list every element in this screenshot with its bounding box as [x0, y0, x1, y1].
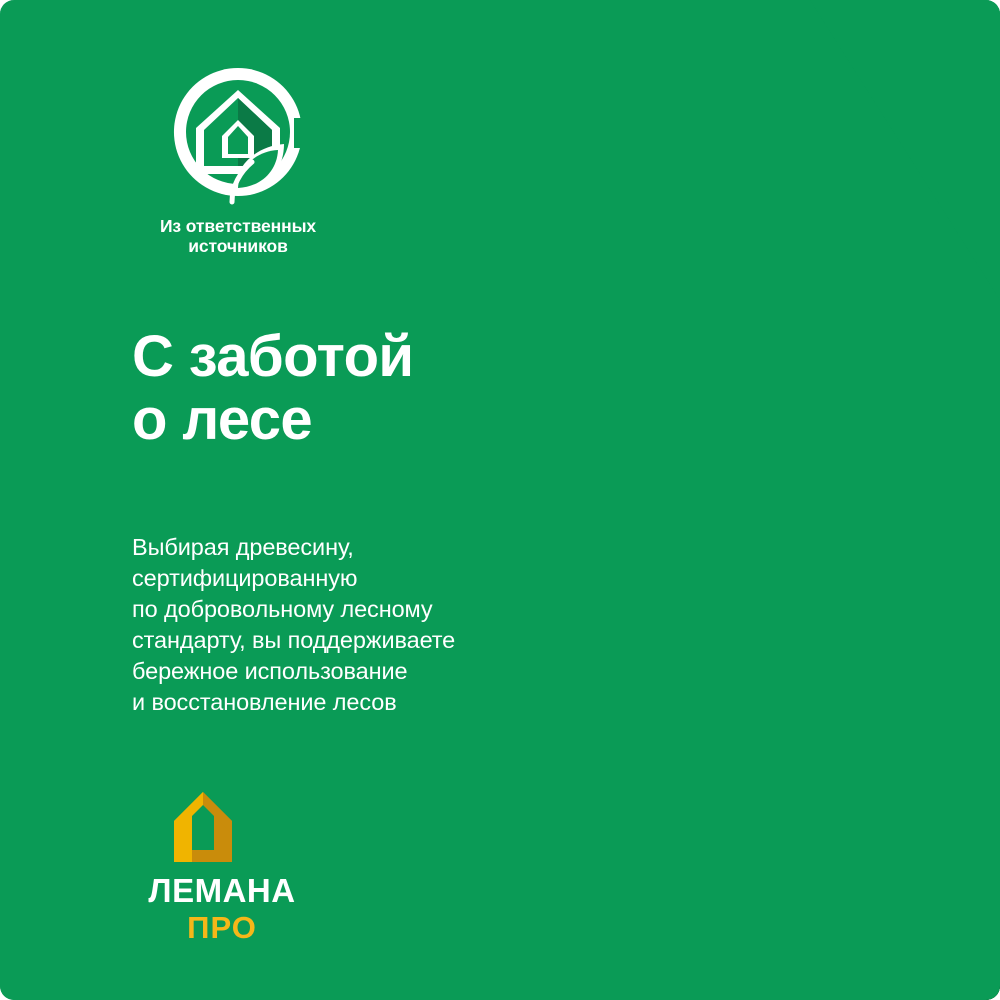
certification-badge: Из ответственных источников [128, 62, 348, 257]
brand-name-primary: ЛЕМАНА [148, 872, 295, 909]
page-title: С заботой о лесе [132, 326, 413, 451]
poster-content: Из ответственных источников С заботой о … [0, 0, 748, 1000]
brand-lockup: ЛЕМАНА ПРО [132, 790, 312, 944]
body-line-5: бережное использование [132, 656, 455, 687]
body-line-6: и восстановление лесов [132, 687, 455, 718]
body-line-3: по добровольному лесному [132, 594, 455, 625]
leman-pro-wordmark: ЛЕМАНА ПРО [132, 868, 312, 944]
body-line-4: стандарту, вы поддерживаете [132, 625, 455, 656]
body-copy: Выбирая древесину, сертифицированную по … [132, 532, 455, 718]
headline-line-2: о лесе [132, 389, 413, 452]
leman-pro-house-icon [166, 790, 240, 864]
poster-canvas: Из ответственных источников С заботой о … [0, 0, 1000, 1000]
body-line-2: сертифицированную [132, 563, 455, 594]
certification-caption-line-1: Из ответственных [160, 216, 316, 236]
headline-line-1: С заботой [132, 324, 413, 389]
body-line-1: Выбирая древесину, [132, 532, 455, 563]
certification-caption: Из ответственных источников [128, 216, 348, 257]
brand-name-secondary: ПРО [187, 910, 257, 944]
house-leaf-circle-icon [168, 62, 308, 210]
certification-caption-line-2: источников [128, 236, 348, 256]
